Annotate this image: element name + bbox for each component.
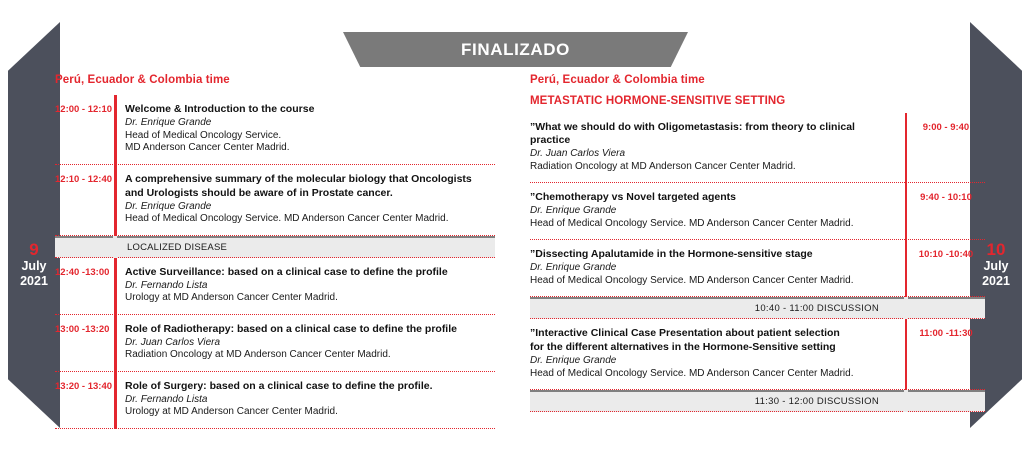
day-tab-right-year: 2021 (982, 274, 1010, 288)
session-speaker: Dr. Enrique Grande (125, 201, 495, 214)
day-tab-left[interactable]: 9 July 2021 (8, 22, 60, 428)
session-row[interactable]: ”Dissecting Apalutamide in the Hormone-s… (530, 240, 985, 297)
timeline-rule-mask (113, 236, 117, 258)
session-affiliation: Head of Medical Oncology Service. MD And… (530, 368, 897, 381)
session-time: 12:40 -13:00 (55, 258, 114, 314)
session-list-day1: 12:00 - 12:10Welcome & Introduction to t… (55, 95, 495, 429)
session-time: 12:00 - 12:10 (55, 95, 114, 164)
timeline-rule-mask (904, 297, 908, 319)
day-tab-right-month: July (983, 259, 1008, 273)
session-title: A comprehensive summary of the molecular… (125, 173, 495, 186)
session-title: and Urologists should be aware of in Pro… (125, 187, 495, 200)
day-tab-left-day: 9 (8, 240, 60, 259)
band-label: LOCALIZED DISEASE (55, 242, 227, 253)
session-title: Welcome & Introduction to the course (125, 103, 495, 116)
session-row[interactable]: 13:20 - 13:40Role of Surgery: based on a… (55, 372, 495, 429)
session-time: 12:10 - 12:40 (55, 165, 114, 235)
session-speaker: Dr. Juan Carlos Viera (125, 337, 495, 350)
session-affiliation: Radiation Oncology at MD Anderson Cancer… (125, 349, 495, 362)
session-body: Role of Radiotherapy: based on a clinica… (114, 315, 495, 371)
session-row[interactable]: ”What we should do with Oligometastasis:… (530, 113, 985, 183)
session-speaker: Dr. Enrique Grande (530, 262, 897, 275)
session-affiliation: Radiation Oncology at MD Anderson Cancer… (530, 161, 897, 174)
session-affiliation: Urology at MD Anderson Cancer Center Mad… (125, 292, 495, 305)
session-title: Active Surveillance: based on a clinical… (125, 266, 495, 279)
session-title: ”Chemotherapy vs Novel targeted agents (530, 191, 897, 204)
session-row[interactable]: 12:40 -13:00Active Surveillance: based o… (55, 258, 495, 315)
session-row[interactable]: 12:00 - 12:10Welcome & Introduction to t… (55, 95, 495, 165)
status-banner: FINALIZADO (343, 32, 688, 67)
session-speaker: Dr. Enrique Grande (530, 355, 897, 368)
session-speaker: Dr. Enrique Grande (125, 117, 495, 130)
session-title: ”Interactive Clinical Case Presentation … (530, 327, 897, 340)
session-title: Role of Radiotherapy: based on a clinica… (125, 323, 495, 336)
session-title: Role of Surgery: based on a clinical cas… (125, 380, 495, 393)
session-list-day2: ”What we should do with Oligometastasis:… (530, 113, 985, 412)
session-affiliation: Head of Medical Oncology Service. MD And… (530, 275, 897, 288)
session-row[interactable]: ”Chemotherapy vs Novel targeted agentsDr… (530, 183, 985, 240)
session-body: Role of Surgery: based on a clinical cas… (114, 372, 495, 428)
discussion-band: 10:40 - 11:00 DISCUSSION (530, 297, 985, 319)
session-time: 9:40 - 10:10 (907, 183, 985, 239)
session-speaker: Dr. Fernando Lista (125, 280, 495, 293)
session-affiliation: Urology at MD Anderson Cancer Center Mad… (125, 406, 495, 419)
band-label: 10:40 - 11:00 DISCUSSION (755, 303, 985, 314)
agenda-stage: FINALIZADO 9 July 2021 10 July 2021 Perú… (0, 0, 1030, 450)
session-speaker: Dr. Juan Carlos Viera (530, 148, 897, 161)
session-time: 9:00 - 9:40 (907, 113, 985, 182)
session-title: ”What we should do with Oligometastasis:… (530, 121, 897, 147)
session-row[interactable]: 12:10 - 12:40A comprehensive summary of … (55, 165, 495, 236)
section-title-metastatic: METASTATIC HORMONE-SENSITIVE SETTING (530, 95, 985, 107)
session-affiliation: MD Anderson Cancer Center Madrid. (125, 142, 495, 155)
session-affiliation: Head of Medical Oncology Service. (125, 130, 495, 143)
session-time: 13:00 -13:20 (55, 315, 114, 371)
timeline-rule-mask (904, 390, 908, 412)
session-speaker: Dr. Fernando Lista (125, 394, 495, 407)
session-affiliation: Head of Medical Oncology Service. MD And… (125, 213, 495, 226)
timezone-title-left: Perú, Ecuador & Colombia time (55, 74, 495, 86)
session-body: ”Interactive Clinical Case Presentation … (530, 319, 907, 389)
agenda-column-day2: Perú, Ecuador & Colombia time METASTATIC… (530, 74, 985, 412)
status-banner-label: FINALIZADO (461, 40, 570, 60)
session-body: ”Dissecting Apalutamide in the Hormone-s… (530, 240, 907, 296)
session-title: ”Dissecting Apalutamide in the Hormone-s… (530, 248, 897, 261)
agenda-column-day1: Perú, Ecuador & Colombia time 12:00 - 12… (55, 74, 495, 429)
session-speaker: Dr. Enrique Grande (530, 205, 897, 218)
day-tab-left-year: 2021 (20, 274, 48, 288)
session-title: for the different alternatives in the Ho… (530, 341, 897, 354)
discussion-band: 11:30 - 12:00 DISCUSSION (530, 390, 985, 412)
session-row[interactable]: ”Interactive Clinical Case Presentation … (530, 319, 985, 390)
session-time: 13:20 - 13:40 (55, 372, 114, 428)
session-time: 11:00 -11:30 (907, 319, 985, 389)
day-tab-left-month: July (21, 259, 46, 273)
session-body: ”Chemotherapy vs Novel targeted agentsDr… (530, 183, 907, 239)
session-row[interactable]: 13:00 -13:20Role of Radiotherapy: based … (55, 315, 495, 372)
session-body: ”What we should do with Oligometastasis:… (530, 113, 907, 182)
section-band: LOCALIZED DISEASE (55, 236, 495, 258)
session-affiliation: Head of Medical Oncology Service. MD And… (530, 218, 897, 231)
timezone-title-right: Perú, Ecuador & Colombia time (530, 74, 985, 86)
session-body: A comprehensive summary of the molecular… (114, 165, 495, 235)
session-body: Welcome & Introduction to the courseDr. … (114, 95, 495, 164)
session-time: 10:10 -10:40 (907, 240, 985, 296)
session-body: Active Surveillance: based on a clinical… (114, 258, 495, 314)
band-label: 11:30 - 12:00 DISCUSSION (755, 396, 985, 407)
